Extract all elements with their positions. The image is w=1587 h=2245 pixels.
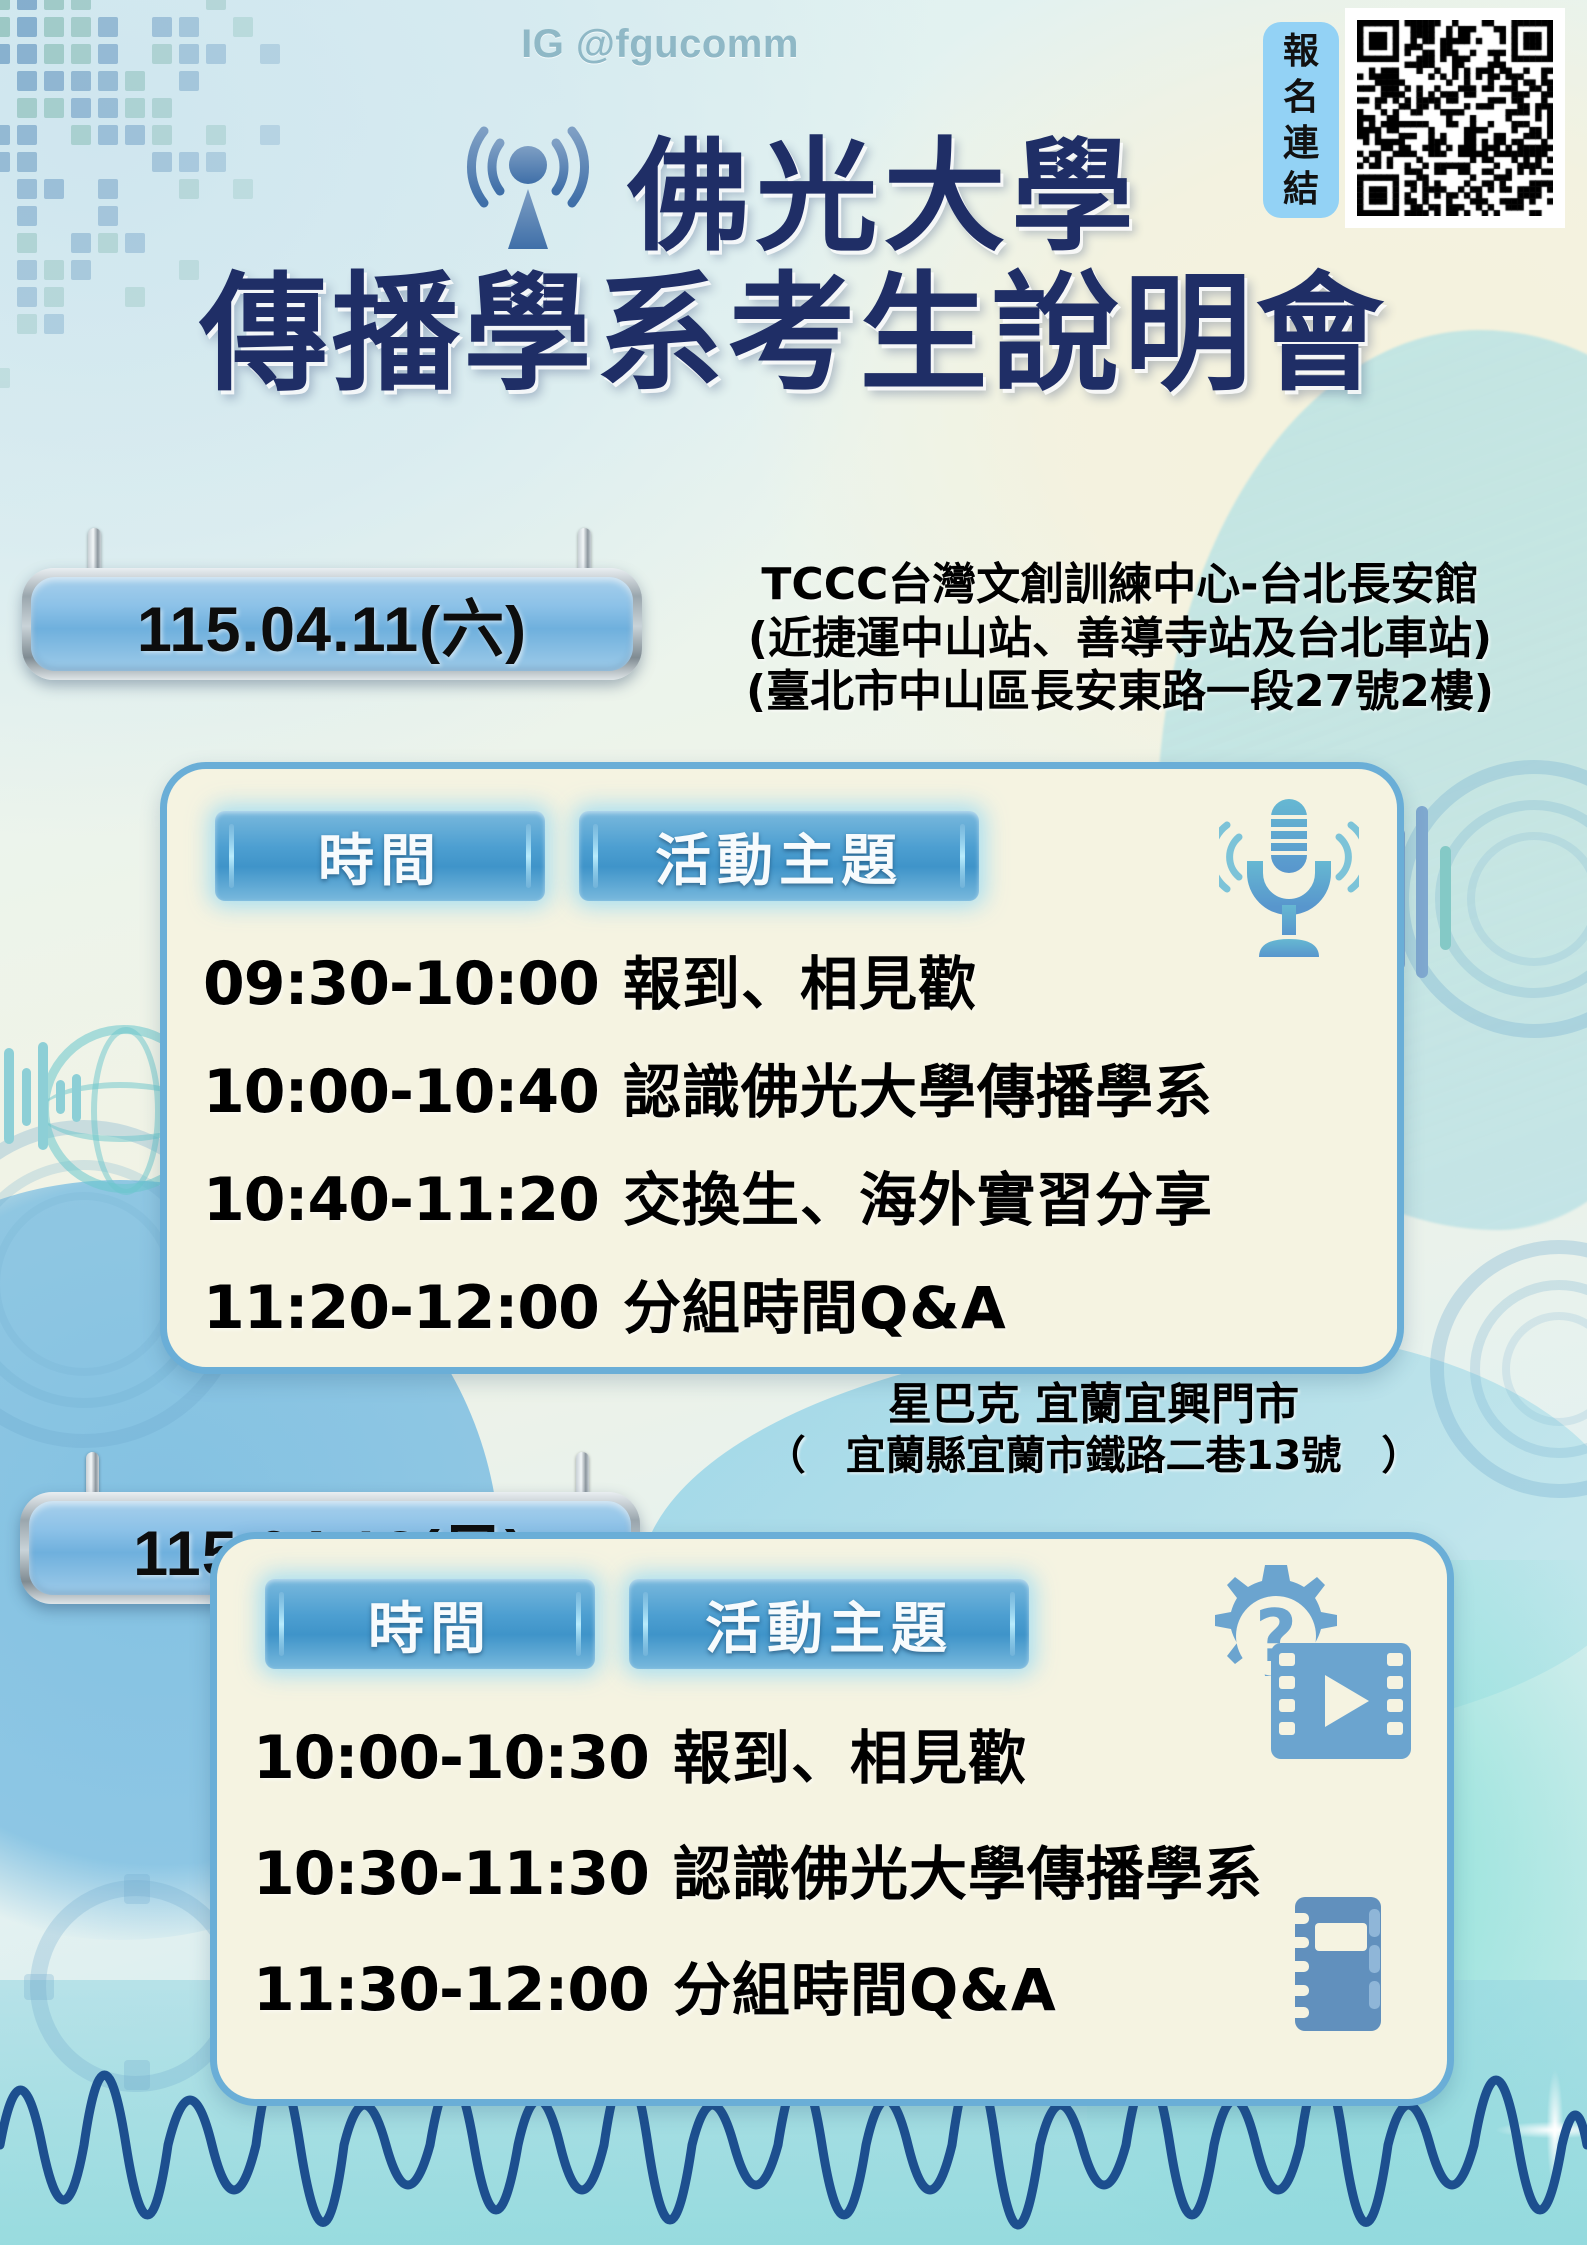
aperture-icon [1395, 760, 1587, 1038]
poster-root: IG @fgucomm 報 名 連 結 佛光大學 [0, 0, 1587, 2245]
session-1-venue-name: TCCC台灣文創訓練中心-台北長安館 [660, 558, 1580, 612]
session-1-header-topic-label: 活動主題 [655, 816, 903, 897]
instagram-handle: IG @fgucomm [0, 22, 1320, 67]
waveform-icon [0, 1030, 120, 1170]
table-row: 11:30-12:00 分組時間Q&A [253, 1943, 1393, 2027]
session-2-venue: 星巴克 宜蘭宜興門市 （ 宜蘭縣宜蘭市鐵路二巷13號 ） [600, 1378, 1587, 1480]
session-1-row-2-topic: 認識佛光大學傳播學系 [623, 1045, 1213, 1129]
session-2-row-3-time: 11:30-12:00 [253, 1955, 673, 2025]
session-2-row-3-topic: 分組時間Q&A [673, 1943, 1057, 2027]
session-2-header-time-label: 時間 [368, 1584, 492, 1665]
session-1-venue-address: (臺北市中山區長安東路一段27號2樓) [660, 665, 1580, 719]
microphone-icon [1219, 797, 1359, 967]
session-2-header-topic: 活動主題 [629, 1579, 1029, 1669]
session-1-venue: TCCC台灣文創訓練中心-台北長安館 (近捷運中山站、善導寺站及台北車站) (臺… [660, 558, 1580, 719]
date-plate-1: 115.04.11(六) [22, 568, 642, 680]
session-1-row-4-time: 11:20-12:00 [203, 1273, 623, 1343]
session-1-date: 115.04.11(六) [137, 579, 527, 670]
table-row: 10:00-10:30 報到、相見歡 [253, 1711, 1393, 1795]
session-2-row-2-topic: 認識佛光大學傳播學系 [673, 1827, 1263, 1911]
session-2-row-2-time: 10:30-11:30 [253, 1839, 673, 1909]
session-2-row-1-topic: 報到、相見歡 [673, 1711, 1027, 1795]
table-row: 10:30-11:30 認識佛光大學傳播學系 [253, 1827, 1393, 1911]
session-1-venue-note: (近捷運中山站、善導寺站及台北車站) [660, 612, 1580, 666]
session-2-header-topic-label: 活動主題 [705, 1584, 953, 1665]
qr-label-char-1: 報 [1283, 28, 1319, 74]
session-1-row-3-time: 10:40-11:20 [203, 1165, 623, 1235]
table-row: 09:30-10:00 報到、相見歡 [203, 937, 1343, 1021]
table-row: 10:40-11:20 交換生、海外實習分享 [203, 1153, 1343, 1237]
session-2-row-1-time: 10:00-10:30 [253, 1723, 673, 1793]
film-play-icon [1271, 1643, 1411, 1759]
session-1-table-header: 時間 活動主題 [215, 811, 979, 901]
sparkle-icon [1490, 2065, 1587, 2195]
session-2-header-time: 時間 [265, 1579, 595, 1669]
session-1-header-time-label: 時間 [318, 816, 442, 897]
session-1-rows: 09:30-10:00 報到、相見歡 10:00-10:40 認識佛光大學傳播學… [203, 937, 1343, 1345]
table-row: 11:20-12:00 分組時間Q&A [203, 1261, 1343, 1345]
session-2-table-header: 時間 活動主題 [265, 1579, 1029, 1669]
session-1-row-4-topic: 分組時間Q&A [623, 1261, 1007, 1345]
session-2-rows: 10:00-10:30 報到、相見歡 10:30-11:30 認識佛光大學傳播學… [253, 1711, 1393, 2027]
session-2-venue-address: （ 宜蘭縣宜蘭市鐵路二巷13號 ） [600, 1432, 1587, 1481]
session-2-venue-name: 星巴克 宜蘭宜興門市 [600, 1378, 1587, 1432]
session-1-row-2-time: 10:00-10:40 [203, 1057, 623, 1127]
table-row: 10:00-10:40 認識佛光大學傳播學系 [203, 1045, 1343, 1129]
session-1-schedule-card: 時間 活動主題 09:30-10:00 報到、相見歡 10:00-10:40 認… [160, 762, 1404, 1374]
session-1-header-topic: 活動主題 [579, 811, 979, 901]
notebook-icon [1269, 1889, 1399, 2039]
session-1-row-3-topic: 交換生、海外實習分享 [623, 1153, 1213, 1237]
session-2-schedule-card: 時間 活動主題 10:00-10:30 報到、相見歡 10:30-11:30 認… [210, 1532, 1454, 2106]
session-1-row-1-time: 09:30-10:00 [203, 949, 623, 1019]
session-1-row-1-topic: 報到、相見歡 [623, 937, 977, 1021]
session-1-header-time: 時間 [215, 811, 545, 901]
page-title-line-2: 傳播學系考生說明會 [0, 230, 1587, 415]
